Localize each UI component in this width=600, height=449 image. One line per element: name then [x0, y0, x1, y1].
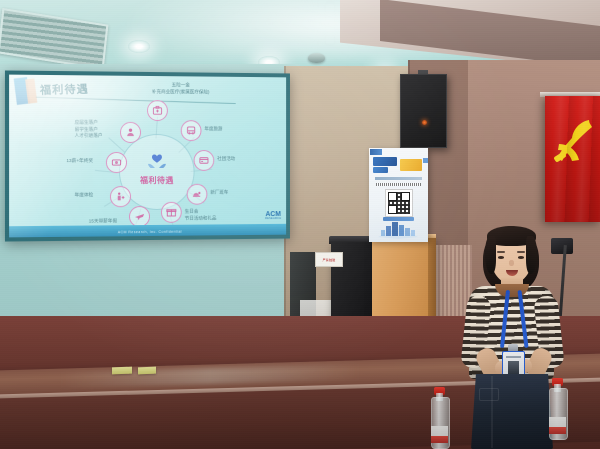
node-icon-shuttle — [187, 184, 208, 205]
denim-skirt — [471, 374, 553, 449]
bottle-label-band-left — [431, 436, 448, 443]
presentation-room-photo: 福利待遇 福利待遇 — [0, 0, 600, 449]
node-label-insurance: 五险一金 补充商业医疗(家属医疗保险) — [131, 82, 230, 96]
hair-left — [485, 236, 496, 274]
isometric-city-icon — [374, 217, 423, 239]
skirt-seam — [491, 376, 493, 448]
eye-left — [498, 256, 504, 259]
qr-eye-tr — [401, 192, 410, 201]
node-label-club: 社团活动 — [217, 156, 235, 163]
wall-speaker — [400, 74, 447, 148]
water-bottle-left — [431, 387, 448, 449]
node-icon-travel — [181, 120, 202, 141]
node-icon-insurance — [147, 100, 168, 121]
qr-code-icon — [385, 189, 413, 217]
recruitment-poster — [369, 148, 428, 242]
node-icon-club — [194, 150, 215, 171]
acm-logo-sub: RESEARCH — [265, 218, 281, 221]
node-label-vacation: 15天带薪年假 — [89, 218, 117, 225]
node-icon-hukou — [120, 122, 141, 143]
bottle-label-band-right — [549, 427, 566, 434]
party-flag — [545, 96, 600, 222]
sticky-note-2 — [138, 367, 156, 375]
flag-fold-shading — [545, 96, 600, 222]
poster-headline-secondary — [373, 167, 388, 173]
projected-slide: 福利待遇 福利待遇 — [9, 75, 286, 238]
poster-headline-primary — [373, 157, 397, 166]
smoke-detector-icon — [308, 53, 325, 63]
badge-photo — [508, 361, 519, 374]
qr-eye-bl — [388, 205, 397, 214]
skirt-pocket — [479, 388, 499, 401]
node-label-shuttle: 新厂班车 — [210, 190, 228, 197]
eye-right — [518, 256, 524, 259]
hub-label: 福利待遇 — [120, 175, 194, 186]
eyebrow-left — [497, 251, 505, 253]
poster-headline-accent — [400, 159, 422, 171]
acm-logo: ACM RESEARCH — [265, 211, 281, 221]
node-icon-bonus — [106, 152, 127, 173]
projection-screen: 福利待遇 福利待遇 — [5, 70, 290, 241]
badge-header-line — [506, 356, 521, 358]
qr-eye-tl — [388, 192, 397, 201]
slide-title: 福利待遇 — [40, 81, 89, 98]
slide-title-rule — [36, 97, 236, 104]
poster-divider — [376, 183, 421, 186]
slide-ribbon-peach — [25, 78, 37, 103]
speaker-led-icon — [422, 120, 427, 125]
rack-warning-label: 严禁触碰 — [315, 252, 343, 267]
node-label-travel: 年度旅游 — [204, 126, 222, 133]
node-label-bonus: 13薪+年终奖 — [66, 158, 93, 165]
poster-headline-tag — [423, 158, 428, 163]
nose — [509, 260, 514, 266]
node-label-gift: 生日会 节日活动和礼品 — [185, 209, 217, 222]
node-label-checkup: 年度体检 — [75, 192, 94, 199]
node-label-hukou: 应届生落户 留学生落户 人才引进落户 — [75, 120, 103, 140]
node-icon-gift — [161, 202, 182, 223]
node-icon-vacation — [129, 206, 150, 227]
sticky-note-1 — [112, 367, 132, 375]
poster-subtitle — [375, 177, 422, 180]
node-icon-checkup — [110, 186, 131, 207]
poster-corner-mark — [370, 149, 382, 155]
eyebrow-right — [517, 251, 525, 253]
heart-in-hands-icon — [146, 153, 168, 176]
downlight-1 — [128, 40, 150, 53]
water-bottle-right — [549, 378, 566, 440]
poster-header — [373, 157, 424, 174]
